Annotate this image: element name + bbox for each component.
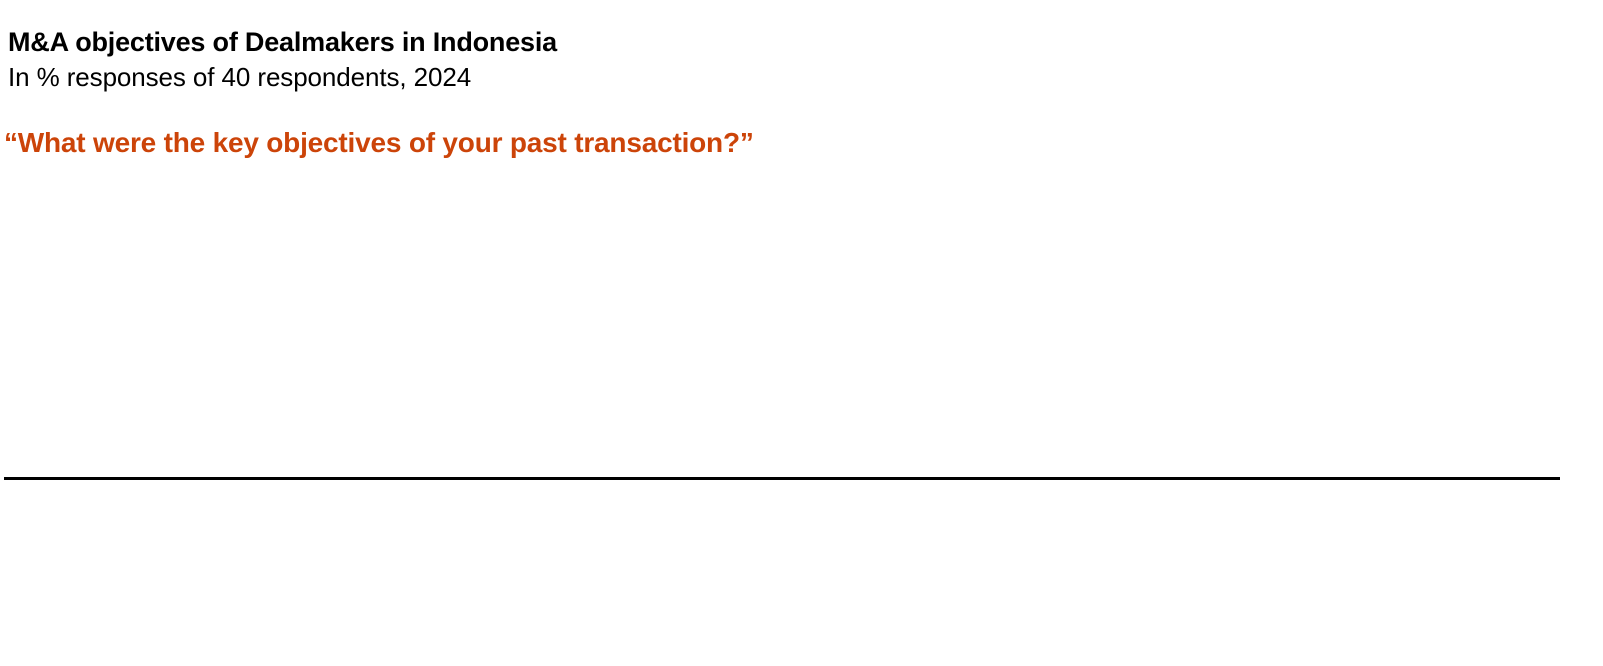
chart-plot-area: Plot region is blank in this render — no…	[4, 172, 1560, 472]
survey-question-text: “What were the key objectives of your pa…	[4, 124, 754, 162]
chart-subtitle: In % responses of 40 respondents, 2024	[8, 60, 1568, 94]
horizontal-divider	[4, 477, 1560, 480]
chart-header: M&A objectives of Dealmakers in Indonesi…	[8, 24, 1568, 94]
chart-page: M&A objectives of Dealmakers in Indonesi…	[0, 0, 1603, 666]
chart-footer	[8, 492, 1564, 662]
page-title: M&A objectives of Dealmakers in Indonesi…	[8, 24, 1568, 60]
